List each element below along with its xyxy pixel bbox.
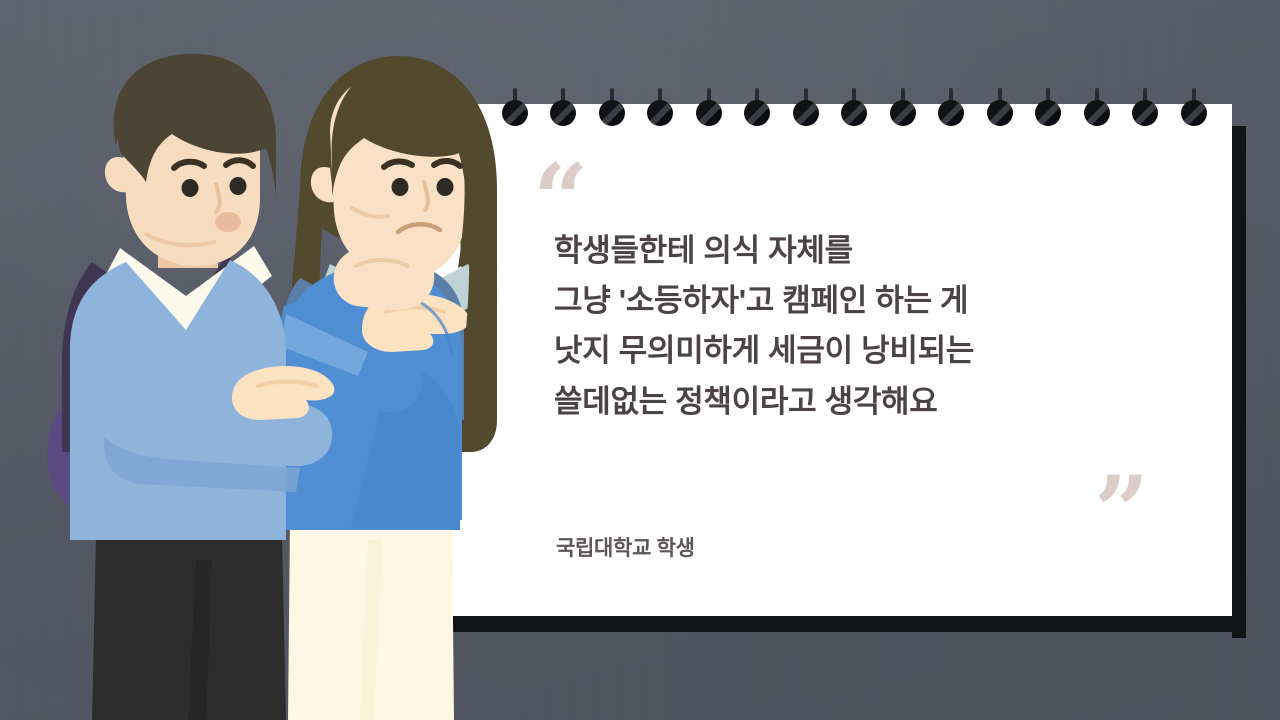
quote-attribution: 국립대학교 학생: [556, 532, 695, 562]
binding-ring: [1141, 88, 1149, 114]
students-illustration: [0, 0, 560, 720]
binding-ring: [996, 88, 1004, 114]
notepad-shadow-right: [1232, 126, 1246, 638]
binding-ring: [705, 88, 713, 114]
quote-text: 학생들한테 의식 자체를 그냥 '소등하자'고 캠페인 하는 게 낫지 무의미하…: [554, 226, 1174, 427]
binding-ring: [753, 88, 761, 114]
binding-ring-bead: [1084, 100, 1110, 126]
binding-ring: [1190, 88, 1198, 114]
binding-ring-bead: [647, 100, 673, 126]
male-pants: [92, 536, 286, 720]
binding-ring: [802, 88, 810, 114]
female-eye-left: [392, 178, 409, 196]
binding-ring-bead: [987, 100, 1013, 126]
binding-ring-bead: [599, 100, 625, 126]
binding-ring-bead: [841, 100, 867, 126]
binding-ring: [1044, 88, 1052, 114]
binding-ring: [1093, 88, 1101, 114]
binding-ring: [608, 88, 616, 114]
binding-ring-bead: [744, 100, 770, 126]
female-eye-right: [437, 178, 454, 196]
binding-ring: [947, 88, 955, 114]
binding-ring: [850, 88, 858, 114]
binding-ring-bead: [1132, 100, 1158, 126]
binding-ring-bead: [1035, 100, 1061, 126]
binding-ring-bead: [938, 100, 964, 126]
binding-ring-bead: [890, 100, 916, 126]
male-eye-left: [182, 179, 199, 197]
binding-ring-bead: [793, 100, 819, 126]
male-mouth: [215, 212, 241, 232]
male-eye-right: [230, 177, 247, 195]
binding-ring: [899, 88, 907, 114]
binding-ring: [656, 88, 664, 114]
binding-ring: [559, 88, 567, 114]
binding-ring-bead: [696, 100, 722, 126]
close-quote-icon: ”: [1094, 464, 1149, 560]
binding-ring-bead: [1181, 100, 1207, 126]
quote-card-scene: “ 학생들한테 의식 자체를 그냥 '소등하자'고 캠페인 하는 게 낫지 무의…: [0, 0, 1280, 720]
